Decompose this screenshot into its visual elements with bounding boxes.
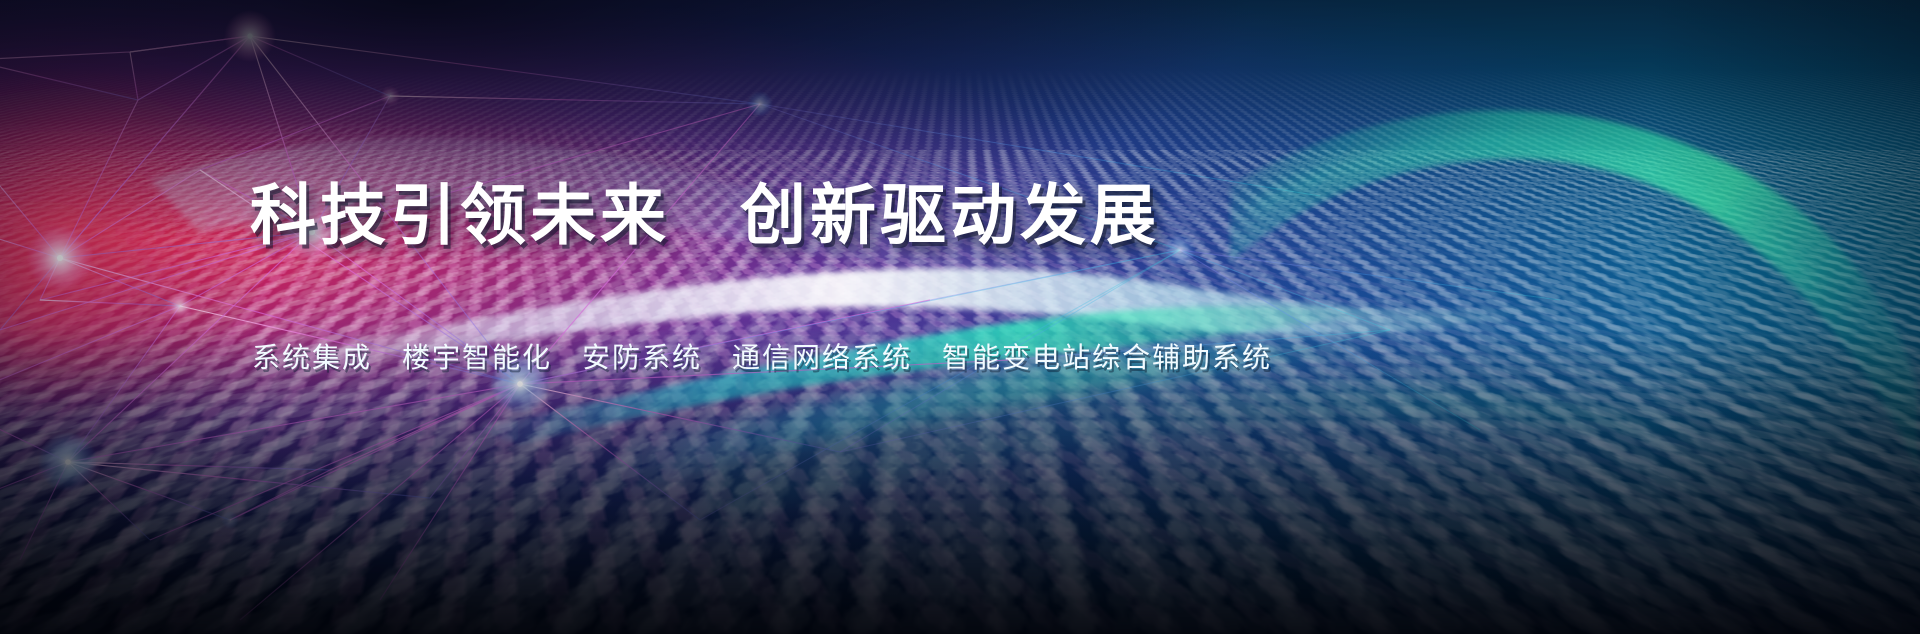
banner-subheadline: 系统集成 楼宇智能化 安防系统 通信网络系统 智能变电站综合辅助系统 xyxy=(252,344,1272,372)
banner-headline: 科技引领未来 创新驱动发展 xyxy=(250,182,1160,248)
banner-copy: 科技引领未来 创新驱动发展 系统集成 楼宇智能化 安防系统 通信网络系统 智能变… xyxy=(0,0,1920,634)
hero-banner: 科技引领未来 创新驱动发展 系统集成 楼宇智能化 安防系统 通信网络系统 智能变… xyxy=(0,0,1920,634)
